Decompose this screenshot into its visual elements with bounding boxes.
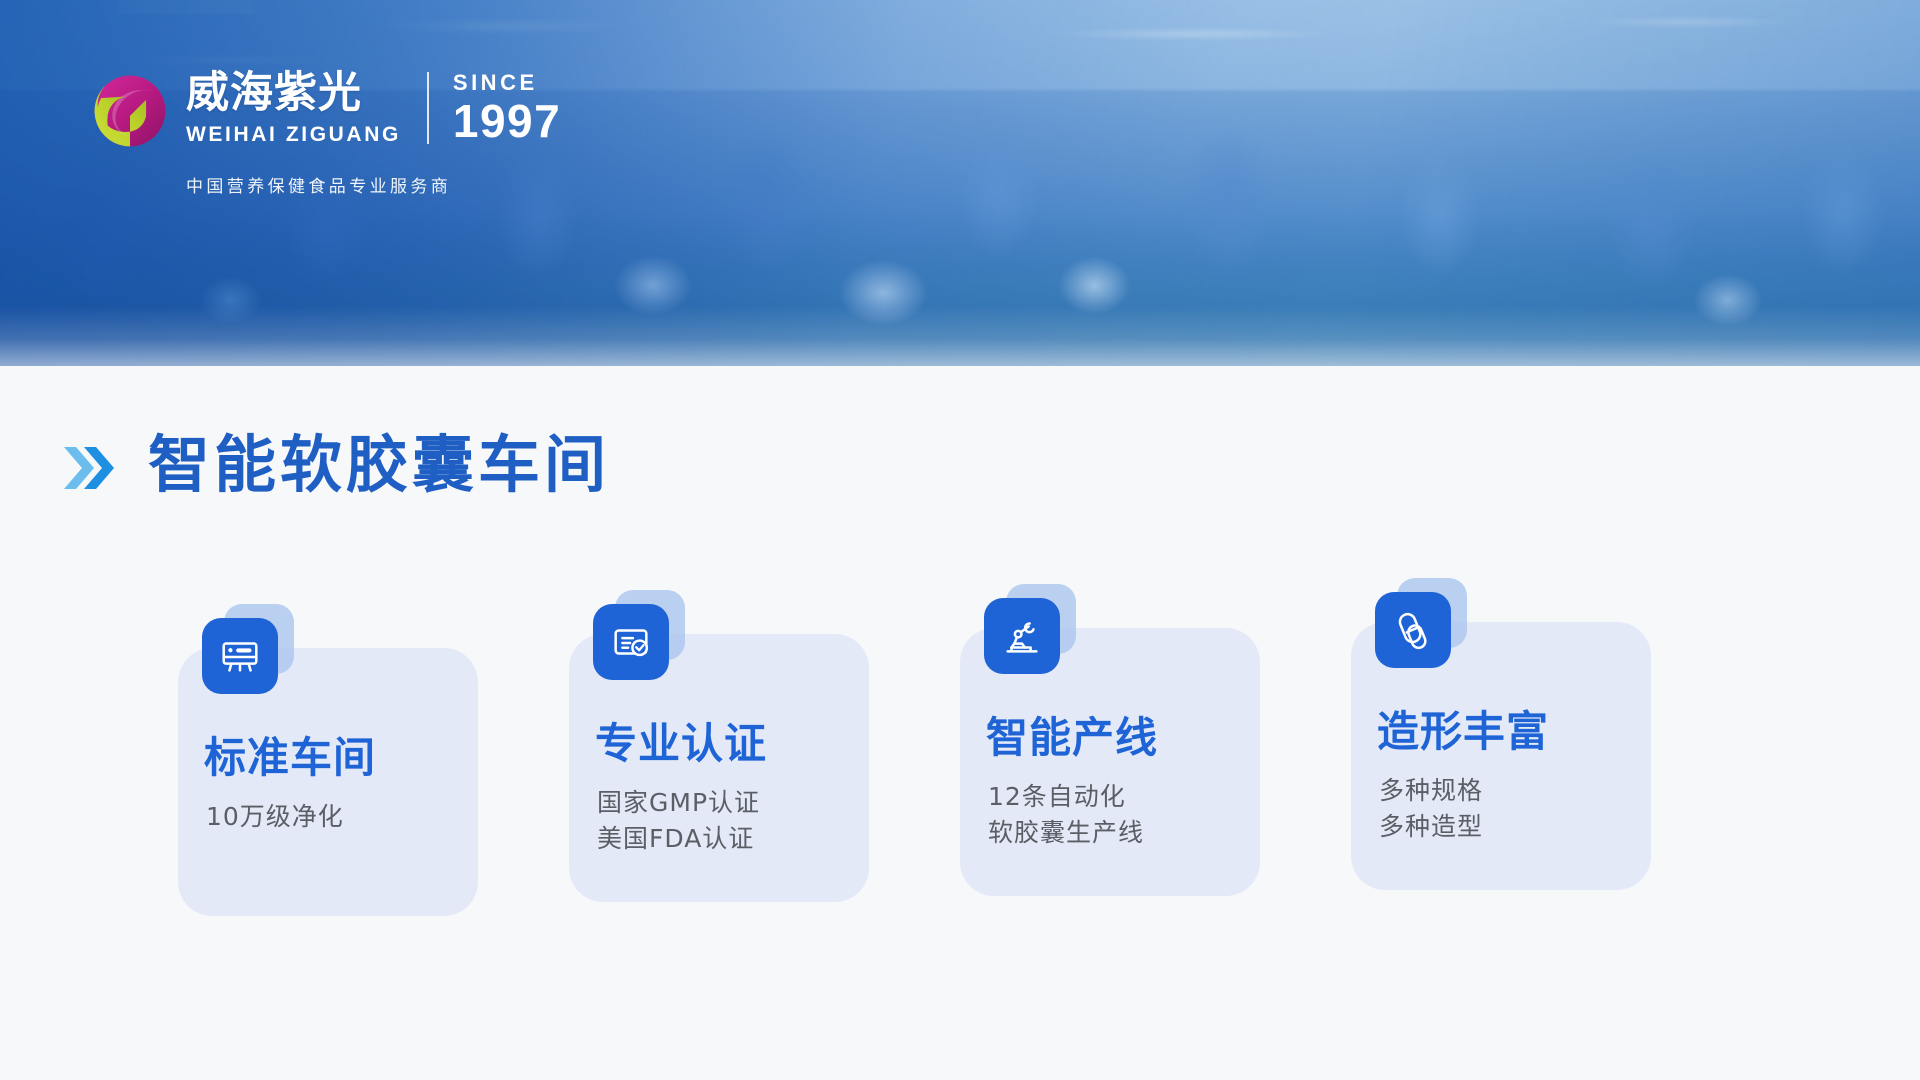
feature-card-smart-production-line[interactable]: 智能产线 12条自动化 软胶囊生产线	[960, 628, 1260, 896]
icon-stack	[593, 590, 689, 682]
card-desc-line: 多种规格	[1379, 773, 1651, 809]
robot-arm-icon	[984, 598, 1060, 674]
card-title: 专业认证	[569, 720, 869, 767]
since-label: SINCE	[453, 72, 561, 94]
double-chevron-right-icon	[62, 443, 116, 493]
brand-tagline: 中国营养保健食品专业服务商	[186, 172, 451, 197]
brand-name-en: WEIHAI ZIGUANG	[186, 124, 401, 145]
since-block: SINCE 1997	[453, 70, 561, 146]
hero-bottom-fade	[0, 306, 1920, 366]
icon-stack	[1375, 578, 1471, 670]
logo-divider	[427, 72, 429, 144]
certificate-check-icon	[593, 604, 669, 680]
hero-banner: 威海紫光 WEIHAI ZIGUANG SINCE 1997 中国营养保健食品专…	[0, 0, 1920, 366]
card-desc-line: 10万级净化	[206, 799, 478, 835]
brand-wordmark: 威海紫光 WEIHAI ZIGUANG SINCE 1997	[186, 70, 561, 146]
ziguang-swirl-logo-icon	[88, 74, 172, 148]
icon-stack	[202, 604, 298, 696]
card-desc-line: 美国FDA认证	[597, 821, 869, 857]
since-year: 1997	[453, 98, 561, 144]
card-desc-line: 12条自动化	[988, 779, 1260, 815]
capsule-icon	[1375, 592, 1451, 668]
card-description: 10万级净化	[178, 799, 478, 835]
card-title: 标准车间	[178, 734, 478, 781]
brand-logo-lockup[interactable]: 威海紫光 WEIHAI ZIGUANG SINCE 1997	[88, 70, 561, 148]
card-title: 智能产线	[960, 714, 1260, 761]
card-description: 多种规格 多种造型	[1351, 773, 1651, 844]
feature-card-standard-workshop[interactable]: 标准车间 10万级净化	[178, 648, 478, 916]
card-description: 国家GMP认证 美国FDA认证	[569, 785, 869, 856]
air-conditioner-icon	[202, 618, 278, 694]
card-description: 12条自动化 软胶囊生产线	[960, 779, 1260, 850]
card-desc-line: 多种造型	[1379, 809, 1651, 845]
brand-name-cn: 威海紫光	[186, 72, 401, 115]
feature-card-professional-certification[interactable]: 专业认证 国家GMP认证 美国FDA认证	[569, 634, 869, 902]
feature-card-rich-shapes[interactable]: 造形丰富 多种规格 多种造型	[1351, 622, 1651, 890]
card-title: 造形丰富	[1351, 708, 1651, 755]
content-area: 智能软胶囊车间	[0, 366, 1920, 1080]
section-heading: 智能软胶囊车间	[62, 434, 610, 496]
card-desc-line: 软胶囊生产线	[988, 815, 1260, 851]
card-desc-line: 国家GMP认证	[597, 785, 869, 821]
page-title: 智能软胶囊车间	[148, 434, 610, 496]
icon-stack	[984, 584, 1080, 676]
feature-card-list: 标准车间 10万级净化	[178, 634, 1651, 916]
page-root: 威海紫光 WEIHAI ZIGUANG SINCE 1997 中国营养保健食品专…	[0, 0, 1920, 1080]
